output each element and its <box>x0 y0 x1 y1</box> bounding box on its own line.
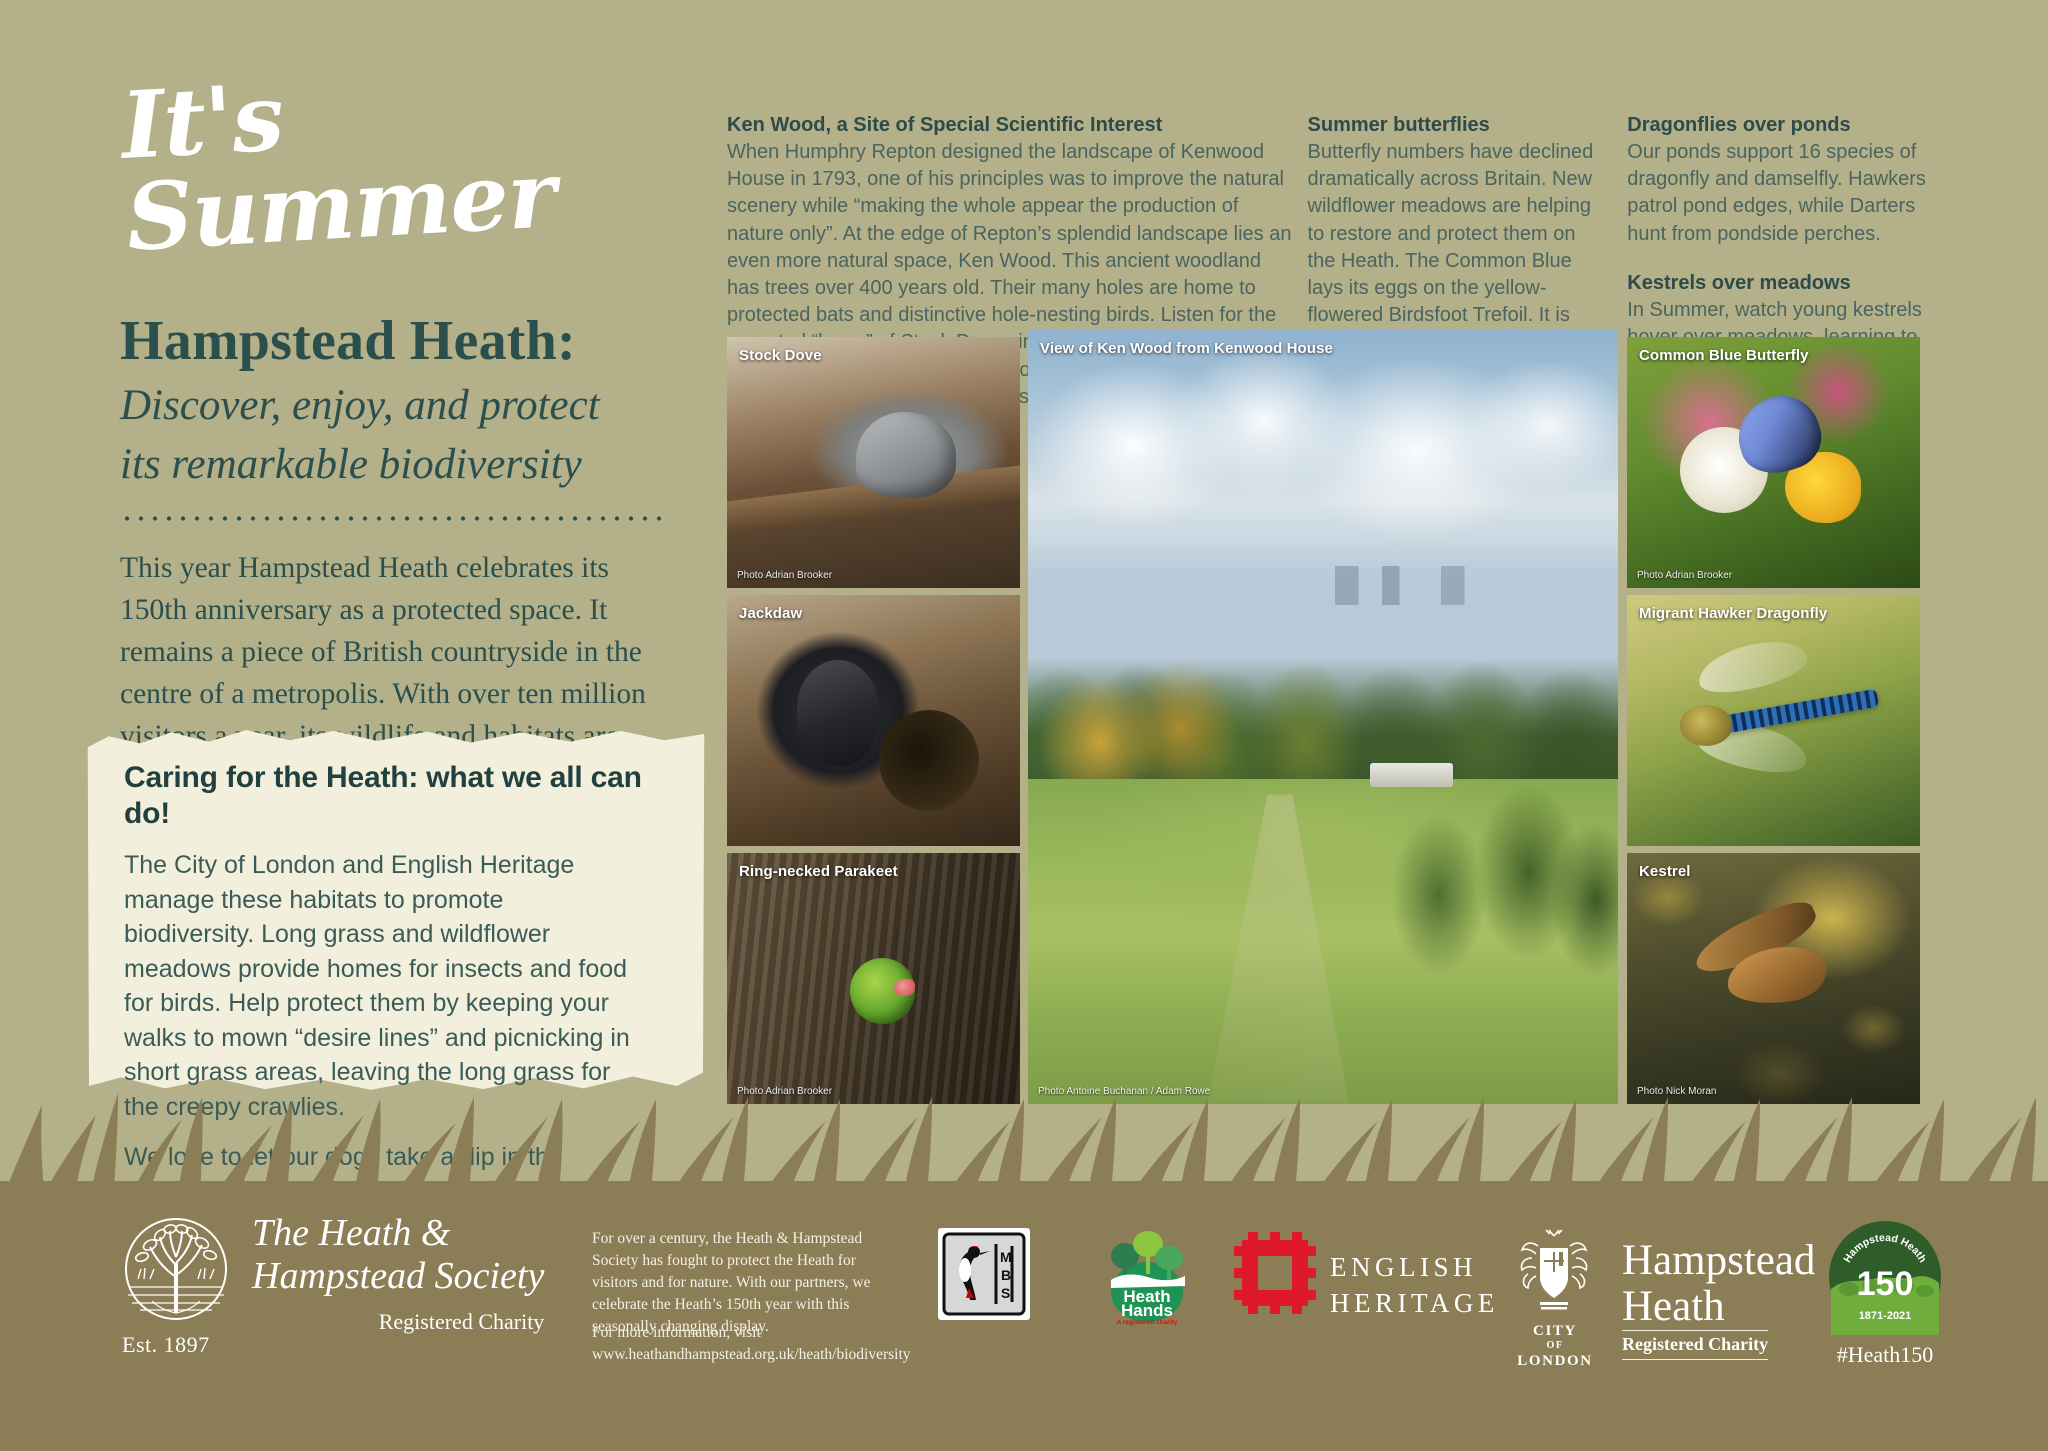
heath-150-badge: 150 1871-2021 Hampstead Heath <box>1827 1219 1943 1335</box>
hashtag-heath150: #Heath150 <box>1818 1342 1952 1368</box>
city-of-london-line-2: LONDON <box>1503 1352 1607 1370</box>
hampstead-heath-line-2: Heath <box>1622 1284 1815 1330</box>
svg-text:B: B <box>1001 1267 1011 1283</box>
society-established-year: Est. 1897 <box>122 1332 210 1358</box>
battlement-icon <box>1232 1230 1318 1316</box>
woodpecker-icon: M B S <box>938 1228 1030 1320</box>
photo-credit-kestrel: Photo Nick Moran <box>1637 1086 1716 1097</box>
svg-text:S: S <box>1001 1285 1010 1301</box>
trees-icon: Heath Hands A registered charity <box>1095 1222 1199 1326</box>
city-of-london-line-1: CITY <box>1503 1322 1607 1340</box>
photo-caption-ken-wood: View of Ken Wood from Kenwood House <box>1040 340 1333 357</box>
badge-years-text: 1871-2021 <box>1859 1310 1912 1322</box>
city-of-london-of: OF <box>1503 1340 1607 1352</box>
photo-credit-stock-dove: Photo Adrian Brooker <box>737 570 832 581</box>
english-heritage-mark <box>1232 1230 1318 1316</box>
poster-canvas: It's Summer Hampstead Heath: Discover, e… <box>0 0 2048 1451</box>
svg-text:Hands: Hands <box>1121 1301 1173 1320</box>
city-of-london-crest <box>1512 1228 1596 1320</box>
tree-icon <box>120 1217 232 1329</box>
photo-caption-jackdaw: Jackdaw <box>739 605 802 622</box>
photo-credit-ken-wood: Photo Antoine Buchanan / Adam Rowe <box>1038 1086 1210 1097</box>
english-heritage-wordmark: ENGLISH HERITAGE <box>1330 1250 1499 1321</box>
society-name-line-2: Hampstead Society <box>252 1255 544 1298</box>
footer-paragraph-2[interactable]: For more information, visit www.heathand… <box>592 1322 892 1366</box>
photo-credit-butterfly: Photo Adrian Brooker <box>1637 570 1732 581</box>
heath-and-hampstead-society-logo: The Heath & Hampstead Society Registered… <box>120 1212 544 1335</box>
coat-of-arms-icon <box>1512 1228 1596 1320</box>
photo-caption-parakeet: Ring-necked Parakeet <box>739 863 898 880</box>
mbs-logo: M B S <box>938 1228 1030 1320</box>
english-heritage-line-1: ENGLISH <box>1330 1250 1499 1286</box>
hampstead-heath-wordmark: Hampstead Heath <box>1622 1238 1815 1331</box>
svg-text:M: M <box>1000 1249 1012 1265</box>
photo-credit-parakeet: Photo Adrian Brooker <box>737 1086 832 1097</box>
photo-caption-kestrel: Kestrel <box>1639 863 1691 880</box>
english-heritage-line-2: HERITAGE <box>1330 1286 1499 1322</box>
anniversary-badge-icon: 150 1871-2021 Hampstead Heath <box>1827 1219 1943 1335</box>
photo-caption-butterfly: Common Blue Butterfly <box>1639 347 1809 364</box>
svg-text:A registered charity: A registered charity <box>1117 1319 1178 1326</box>
photo-caption-stock-dove: Stock Dove <box>739 347 822 364</box>
hampstead-heath-registered-charity: Registered Charity <box>1622 1330 1768 1360</box>
photo-caption-dragonfly: Migrant Hawker Dragonfly <box>1639 605 1827 622</box>
heath-hands-logo: Heath Hands A registered charity <box>1095 1222 1199 1326</box>
society-registered-charity: Registered Charity <box>252 1309 544 1335</box>
badge-number-text: 150 <box>1857 1265 1914 1303</box>
society-name-line-1: The Heath & <box>252 1212 544 1255</box>
hampstead-heath-line-1: Hampstead <box>1622 1238 1815 1284</box>
city-of-london-wordmark: CITY OF LONDON <box>1503 1322 1607 1371</box>
